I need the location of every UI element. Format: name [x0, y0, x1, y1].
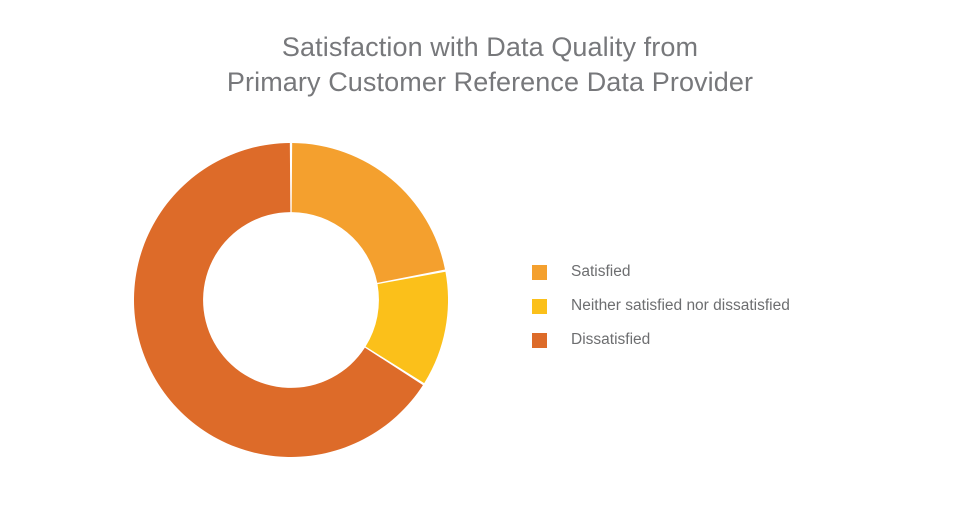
donut-chart-figure: Satisfaction with Data Quality from Prim…	[0, 0, 980, 490]
legend-label-neither: Neither satisfied nor dissatisfied	[571, 297, 790, 315]
percent-sign-satisfied: %	[513, 347, 530, 368]
legend-item-dissatisfied[interactable]: Dissatisfied	[532, 323, 790, 357]
donut-plot-area: 22% 12% 66%	[134, 143, 448, 457]
slice-label-dissatisfied: 66%	[293, 485, 336, 508]
percent-sign-neither: %	[557, 460, 574, 481]
chart-title-line-1: Satisfaction with Data Quality from	[282, 32, 698, 62]
legend-item-satisfied[interactable]: Satisfied	[532, 255, 790, 289]
slice-label-satisfied: 22%	[487, 344, 530, 367]
legend-swatch-icon-satisfied	[532, 265, 547, 280]
slice-value-dissatisfied: 66	[293, 483, 319, 509]
chart-title: Satisfaction with Data Quality from Prim…	[0, 30, 980, 100]
legend-label-satisfied: Satisfied	[571, 263, 630, 281]
chart-title-line-2: Primary Customer Reference Data Provider	[227, 67, 753, 97]
legend-swatch-icon-dissatisfied	[532, 333, 547, 348]
chart-legend: Satisfied Neither satisfied nor dissatis…	[532, 255, 790, 357]
legend-label-dissatisfied: Dissatisfied	[571, 331, 650, 349]
legend-swatch-icon-neither	[532, 299, 547, 314]
slice-label-neither: 12%	[531, 457, 574, 480]
legend-item-neither[interactable]: Neither satisfied nor dissatisfied	[532, 289, 790, 323]
percent-sign-dissatisfied: %	[319, 488, 336, 509]
slice-value-neither: 12	[531, 455, 557, 481]
donut-slice-satisfied[interactable]	[292, 143, 445, 283]
donut-slice-group	[134, 143, 448, 457]
donut-svg	[134, 143, 448, 457]
slice-value-satisfied: 22	[487, 342, 513, 368]
